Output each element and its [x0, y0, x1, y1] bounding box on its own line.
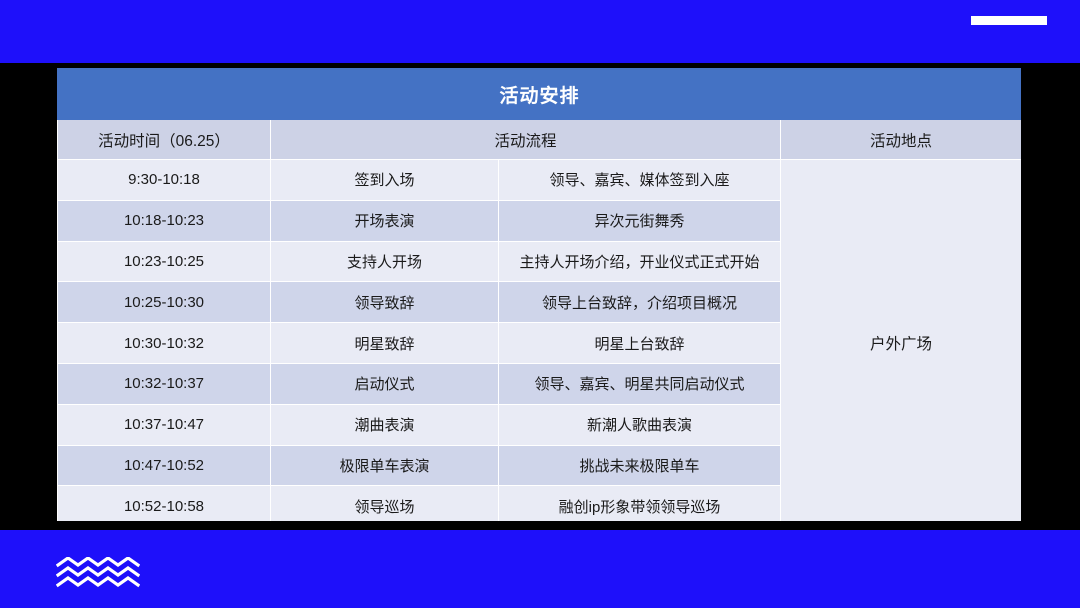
cell-desc: 主持人开场介绍，开业仪式正式开始	[499, 241, 781, 282]
cell-desc: 领导上台致辞，介绍项目概况	[499, 282, 781, 323]
cell-flow: 领导致辞	[271, 282, 499, 323]
accent-bar	[971, 16, 1047, 25]
column-header-time: 活动时间（06.25）	[58, 120, 271, 160]
table-row: 9:30-10:18签到入场领导、嘉宾、媒体签到入座户外广场	[58, 160, 1022, 201]
schedule-table-body: 活动安排活动时间（06.25）活动流程活动地点9:30-10:18签到入场领导、…	[58, 69, 1022, 522]
cell-flow: 启动仪式	[271, 363, 499, 404]
cell-flow: 支持人开场	[271, 241, 499, 282]
schedule-table-container: 活动安排活动时间（06.25）活动流程活动地点9:30-10:18签到入场领导、…	[57, 68, 1021, 521]
cell-desc: 领导、嘉宾、明星共同启动仪式	[499, 363, 781, 404]
cell-desc: 明星上台致辞	[499, 323, 781, 364]
cell-time: 10:30-10:32	[58, 323, 271, 364]
cell-location: 户外广场	[781, 160, 1022, 522]
cell-time: 9:30-10:18	[58, 160, 271, 201]
cell-desc: 挑战未来极限单车	[499, 445, 781, 486]
column-header-flow: 活动流程	[271, 120, 781, 160]
schedule-table: 活动安排活动时间（06.25）活动流程活动地点9:30-10:18签到入场领导、…	[57, 68, 1021, 521]
cell-time: 10:47-10:52	[58, 445, 271, 486]
zigzag-wave-icon	[56, 557, 140, 591]
cell-flow: 签到入场	[271, 160, 499, 201]
slide-canvas: 活动安排活动时间（06.25）活动流程活动地点9:30-10:18签到入场领导、…	[0, 0, 1080, 608]
cell-time: 10:25-10:30	[58, 282, 271, 323]
cell-flow: 极限单车表演	[271, 445, 499, 486]
table-header-row: 活动时间（06.25）活动流程活动地点	[58, 120, 1022, 160]
column-header-place: 活动地点	[781, 120, 1022, 160]
table-title-row: 活动安排	[58, 69, 1022, 120]
cell-desc: 领导、嘉宾、媒体签到入座	[499, 160, 781, 201]
cell-time: 10:52-10:58	[58, 486, 271, 521]
cell-time: 10:37-10:47	[58, 404, 271, 445]
cell-desc: 异次元街舞秀	[499, 200, 781, 241]
cell-time: 10:18-10:23	[58, 200, 271, 241]
table-title: 活动安排	[58, 69, 1022, 120]
cell-time: 10:23-10:25	[58, 241, 271, 282]
cell-flow: 开场表演	[271, 200, 499, 241]
cell-flow: 领导巡场	[271, 486, 499, 521]
cell-desc: 新潮人歌曲表演	[499, 404, 781, 445]
cell-flow: 潮曲表演	[271, 404, 499, 445]
cell-time: 10:32-10:37	[58, 363, 271, 404]
cell-flow: 明星致辞	[271, 323, 499, 364]
zigzag-wave-logo	[56, 557, 140, 591]
cell-desc: 融创ip形象带领领导巡场	[499, 486, 781, 521]
